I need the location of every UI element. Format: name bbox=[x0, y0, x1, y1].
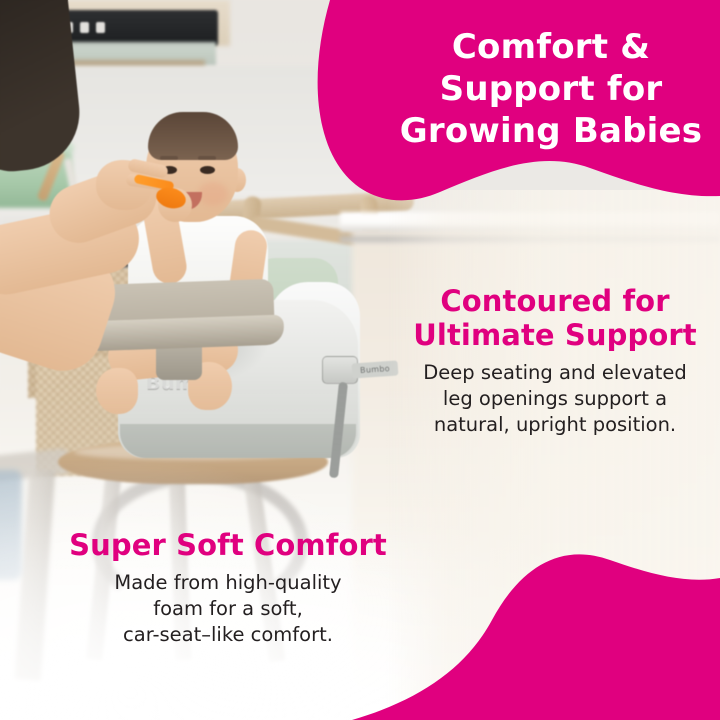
feature-body-line: leg openings support a bbox=[392, 386, 718, 412]
feature-title: Super Soft Comfort bbox=[58, 528, 398, 562]
booster-seat-base bbox=[120, 424, 356, 458]
feature-body-line: car-seat–like comfort. bbox=[58, 622, 398, 648]
hood-button bbox=[96, 22, 105, 33]
headline-line: Support for bbox=[382, 68, 720, 110]
counter-shadow bbox=[340, 236, 720, 243]
feature-body: Deep seating and elevated leg openings s… bbox=[392, 360, 718, 438]
feature-body-line: foam for a soft, bbox=[58, 596, 398, 622]
feature-body-line: Made from high-quality bbox=[58, 570, 398, 596]
marketing-image: Bumbo Bumbo bbox=[0, 0, 720, 720]
headline: Comfort & Support for Growing Babies bbox=[382, 26, 720, 152]
feature-title-line: Contoured for bbox=[392, 284, 718, 318]
feature-title: Contoured for Ultimate Support bbox=[392, 284, 718, 352]
feature-title-line: Ultimate Support bbox=[392, 318, 718, 352]
baby-eyebrow bbox=[198, 156, 216, 160]
baby-foot bbox=[96, 368, 138, 414]
baby-eyebrow bbox=[160, 156, 178, 160]
headline-line: Comfort & bbox=[382, 26, 720, 68]
baby-hair bbox=[148, 112, 238, 160]
feature-super-soft-comfort: Super Soft Comfort Made from high-qualit… bbox=[58, 528, 398, 648]
feature-body-line: Deep seating and elevated bbox=[392, 360, 718, 386]
blue-cloth bbox=[0, 470, 22, 580]
feature-body-line: natural, upright position. bbox=[392, 412, 718, 438]
headline-line: Growing Babies bbox=[382, 110, 720, 152]
feature-title-line: Super Soft Comfort bbox=[58, 528, 398, 562]
hood-button bbox=[80, 22, 89, 33]
baby-cheek bbox=[198, 182, 228, 206]
baby-eye bbox=[200, 166, 215, 174]
feature-contoured-support: Contoured for Ultimate Support Deep seat… bbox=[392, 284, 718, 438]
counter-top-edge bbox=[340, 212, 720, 232]
feature-body: Made from high-quality foam for a soft, … bbox=[58, 570, 398, 648]
